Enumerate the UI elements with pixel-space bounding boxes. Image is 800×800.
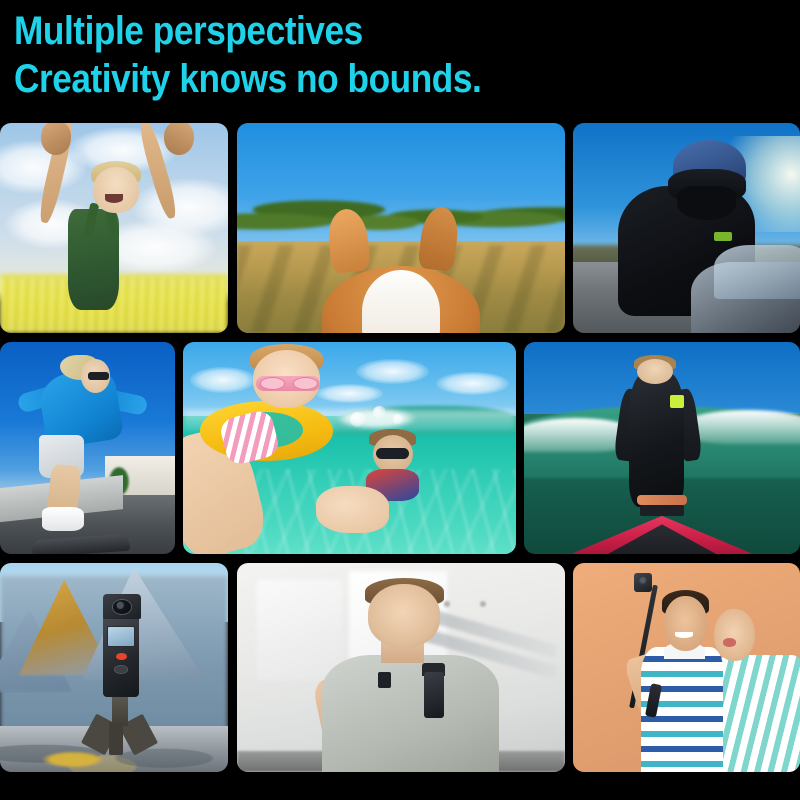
photo-camera-tripod (0, 563, 228, 772)
gallery-tile-dog-pov[interactable] (237, 123, 565, 333)
photo-couple-selfie (573, 563, 800, 772)
headline-line-1: Multiple perspectives (14, 8, 692, 54)
gallery-tile-motorcycle-rider[interactable] (573, 123, 800, 333)
photo-surfer (524, 342, 800, 554)
photo-dog-pov (237, 123, 565, 333)
page-title: Multiple perspectives Creativity knows n… (14, 8, 784, 103)
gallery-tile-camera-tripod[interactable] (0, 563, 228, 772)
gallery-tile-kids-swimming[interactable] (183, 342, 516, 554)
photo-kids-swimming (183, 342, 516, 554)
promo-collage-page: Multiple perspectives Creativity knows n… (0, 0, 800, 800)
gallery-tile-child-swing[interactable] (0, 123, 228, 333)
gallery-tile-couple-selfie[interactable] (573, 563, 800, 772)
photo-child-swing (0, 123, 228, 333)
headline-line-2: Creativity knows no bounds. (14, 56, 692, 102)
photo-motorcycle-rider (573, 123, 800, 333)
gallery-tile-skateboarder[interactable] (0, 342, 175, 554)
photo-man-handheld (237, 563, 565, 772)
gallery-tile-man-handheld[interactable] (237, 563, 565, 772)
gallery-tile-surfer[interactable] (524, 342, 800, 554)
photo-skateboarder (0, 342, 175, 554)
